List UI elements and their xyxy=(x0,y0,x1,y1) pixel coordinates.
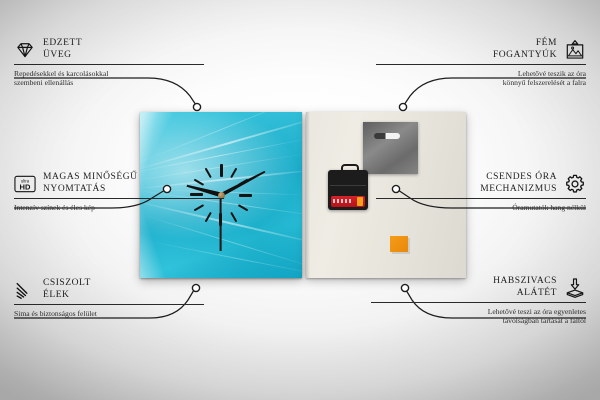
svg-text:HD: HD xyxy=(20,182,31,191)
callout-dot xyxy=(399,103,406,110)
battery-terminal xyxy=(357,197,363,206)
feature-divider xyxy=(14,64,204,65)
feature-header: EDZETTÜVEG xyxy=(14,38,204,61)
callout-dot xyxy=(193,103,200,110)
foam-spacer-pad xyxy=(390,236,408,252)
feature-description: Repedésekkel és karcolásokkalszembeni el… xyxy=(14,69,204,88)
feature-divider xyxy=(376,64,586,65)
feature-header: HABSZIVACSALÁTÉT xyxy=(371,276,586,299)
ultra-hd-icon: ultra HD xyxy=(14,173,36,195)
feature-title: EDZETTÜVEG xyxy=(43,38,82,61)
hanger-slot xyxy=(374,133,400,139)
feature-description: Óramutatók hang nélkül xyxy=(376,203,586,213)
feature-header: FÉMFOGANTYÚK xyxy=(376,38,586,61)
feature-title: FÉMFOGANTYÚK xyxy=(493,38,557,61)
diamond-icon xyxy=(14,39,36,61)
feature-title: CSENDES ÓRAMECHANIZMUS xyxy=(480,172,557,195)
feature-divider xyxy=(376,198,586,199)
battery xyxy=(331,196,365,207)
picture-hanger-icon xyxy=(564,39,586,61)
feature-description: Sima és biztonságos felület xyxy=(14,309,204,319)
gear-icon xyxy=(564,173,586,195)
feature-description: Lehetővé teszik az órakönnyű felszerelés… xyxy=(376,69,586,88)
feature-title: CSISZOLTÉLEK xyxy=(43,278,91,301)
movement-seam xyxy=(330,185,366,186)
quartz-movement-box xyxy=(328,170,368,210)
feature-title: HABSZIVACSALÁTÉT xyxy=(493,276,557,299)
feature-header: CSISZOLTÉLEK xyxy=(14,278,204,301)
feature-description: Intenzív színek és éles kép xyxy=(14,203,224,213)
feature-title: MAGAS MINŐSÉGŰNYOMTATÁS xyxy=(43,172,138,195)
foam-pad-icon xyxy=(564,277,586,299)
polished-edges-icon xyxy=(14,279,36,301)
feature-header: CSENDES ÓRAMECHANIZMUS xyxy=(376,172,586,195)
feature-magas-minosegu-nyomtatas: ultra HD MAGAS MINŐSÉGŰNYOMTATÁS Intenzí… xyxy=(14,172,224,212)
feature-csiszolt-elek: CSISZOLTÉLEK Sima és biztonságos felület xyxy=(14,278,204,318)
battery-label xyxy=(333,199,353,203)
feature-habszivacs-alatet: HABSZIVACSALÁTÉT Lehetővé teszi az óra e… xyxy=(371,276,586,326)
feature-divider xyxy=(14,304,204,305)
feature-csendes-ora-mechanizmus: CSENDES ÓRAMECHANIZMUS Óramutatók hang n… xyxy=(376,172,586,212)
feature-description: Lehetővé teszi az óra egyenletestávolság… xyxy=(371,307,586,326)
infographic-canvas: EDZETTÜVEG Repedésekkel és karcolásokkal… xyxy=(0,0,600,400)
feature-edzett-uveg: EDZETTÜVEG Repedésekkel és karcolásokkal… xyxy=(14,38,204,88)
feature-fem-fogantyuk: FÉMFOGANTYÚK Lehetővé teszik az órakönny… xyxy=(376,38,586,88)
movement-hanger-tab xyxy=(341,164,359,174)
feature-divider xyxy=(14,198,224,199)
metal-hanger-plate xyxy=(363,122,418,174)
feature-divider xyxy=(371,302,586,303)
feature-header: ultra HD MAGAS MINŐSÉGŰNYOMTATÁS xyxy=(14,172,224,195)
